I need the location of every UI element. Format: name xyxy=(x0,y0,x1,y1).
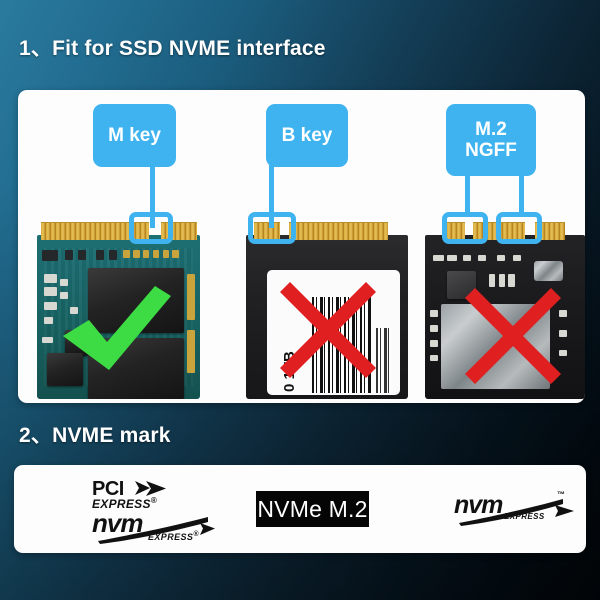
drive-m-key-nand-2 xyxy=(88,338,184,399)
pci-express-nvm-express-logo: PCI EXPRESS® nvm EXPRESS® xyxy=(92,479,217,541)
section-2-number: 2、 xyxy=(19,424,52,447)
b-key-notch-highlight xyxy=(248,212,296,244)
nvme-mark-panel: PCI EXPRESS® nvm EXPRESS® NVMe M.2 nvm xyxy=(14,465,586,553)
callout-m2-ngff-stem-right xyxy=(519,174,524,212)
nvme-m2-badge: NVMe M.2 xyxy=(256,491,369,527)
callout-b-key-label: B key xyxy=(282,125,333,146)
section-1-number: 1、 xyxy=(19,37,52,60)
callout-m2-ngff-line1: M.2 xyxy=(475,119,507,140)
drive-m2-ngff-board xyxy=(425,235,585,399)
section-2-title: 2、NVME mark xyxy=(19,419,171,449)
section-1-text: Fit for SSD NVME interface xyxy=(52,37,326,60)
m-key-notch-highlight xyxy=(129,212,173,244)
section-2-text: NVME mark xyxy=(52,424,171,447)
nvm-express-registered-1: ® xyxy=(193,531,199,538)
nvm-express-logo: nvm EXPRESS ™ xyxy=(454,493,574,533)
nvm-express-subword-1: EXPRESS® xyxy=(148,531,199,542)
drive-b-key-barcode-2 xyxy=(376,328,391,393)
drive-b-key: 0 1TB xyxy=(246,222,408,399)
callout-m2-ngff: M.2 NGFF xyxy=(446,104,536,176)
drive-b-key-barcode xyxy=(312,297,370,392)
m2-ngff-notch-highlight-m xyxy=(496,212,542,244)
drive-m-key xyxy=(37,222,200,399)
ssd-compatibility-panel: M key xyxy=(18,90,585,403)
nvme-m2-badge-text: NVMe M.2 xyxy=(257,496,367,523)
nvm-express-subword-2: EXPRESS xyxy=(504,513,545,521)
drive-b-key-capacity: 0 1TB xyxy=(281,351,298,392)
drive-m-key-nand-1 xyxy=(88,268,184,334)
nvm-express-text-1: EXPRESS xyxy=(148,532,193,542)
callout-b-key: B key xyxy=(266,104,348,167)
drive-m2-ngff-shield xyxy=(441,304,550,389)
drive-m-key-board xyxy=(37,235,200,399)
infographic-page: 1、Fit for SSD NVME interface M key xyxy=(0,0,600,600)
nvm-express-trademark: ™ xyxy=(557,491,565,499)
callout-m2-ngff-stem-left xyxy=(465,174,470,212)
pci-express-word: PCI xyxy=(92,479,124,499)
section-1-title: 1、Fit for SSD NVME interface xyxy=(19,32,326,62)
callout-m-key-label: M key xyxy=(108,125,161,146)
drive-m2-ngff xyxy=(425,222,585,399)
callout-m-key: M key xyxy=(93,104,176,167)
callout-m2-ngff-line2: NGFF xyxy=(465,140,517,161)
m2-ngff-notch-highlight-b xyxy=(442,212,488,244)
pci-express-registered: ® xyxy=(151,496,157,505)
drive-b-key-contacts-right xyxy=(289,222,388,240)
drive-b-key-label: 0 1TB xyxy=(267,270,400,396)
